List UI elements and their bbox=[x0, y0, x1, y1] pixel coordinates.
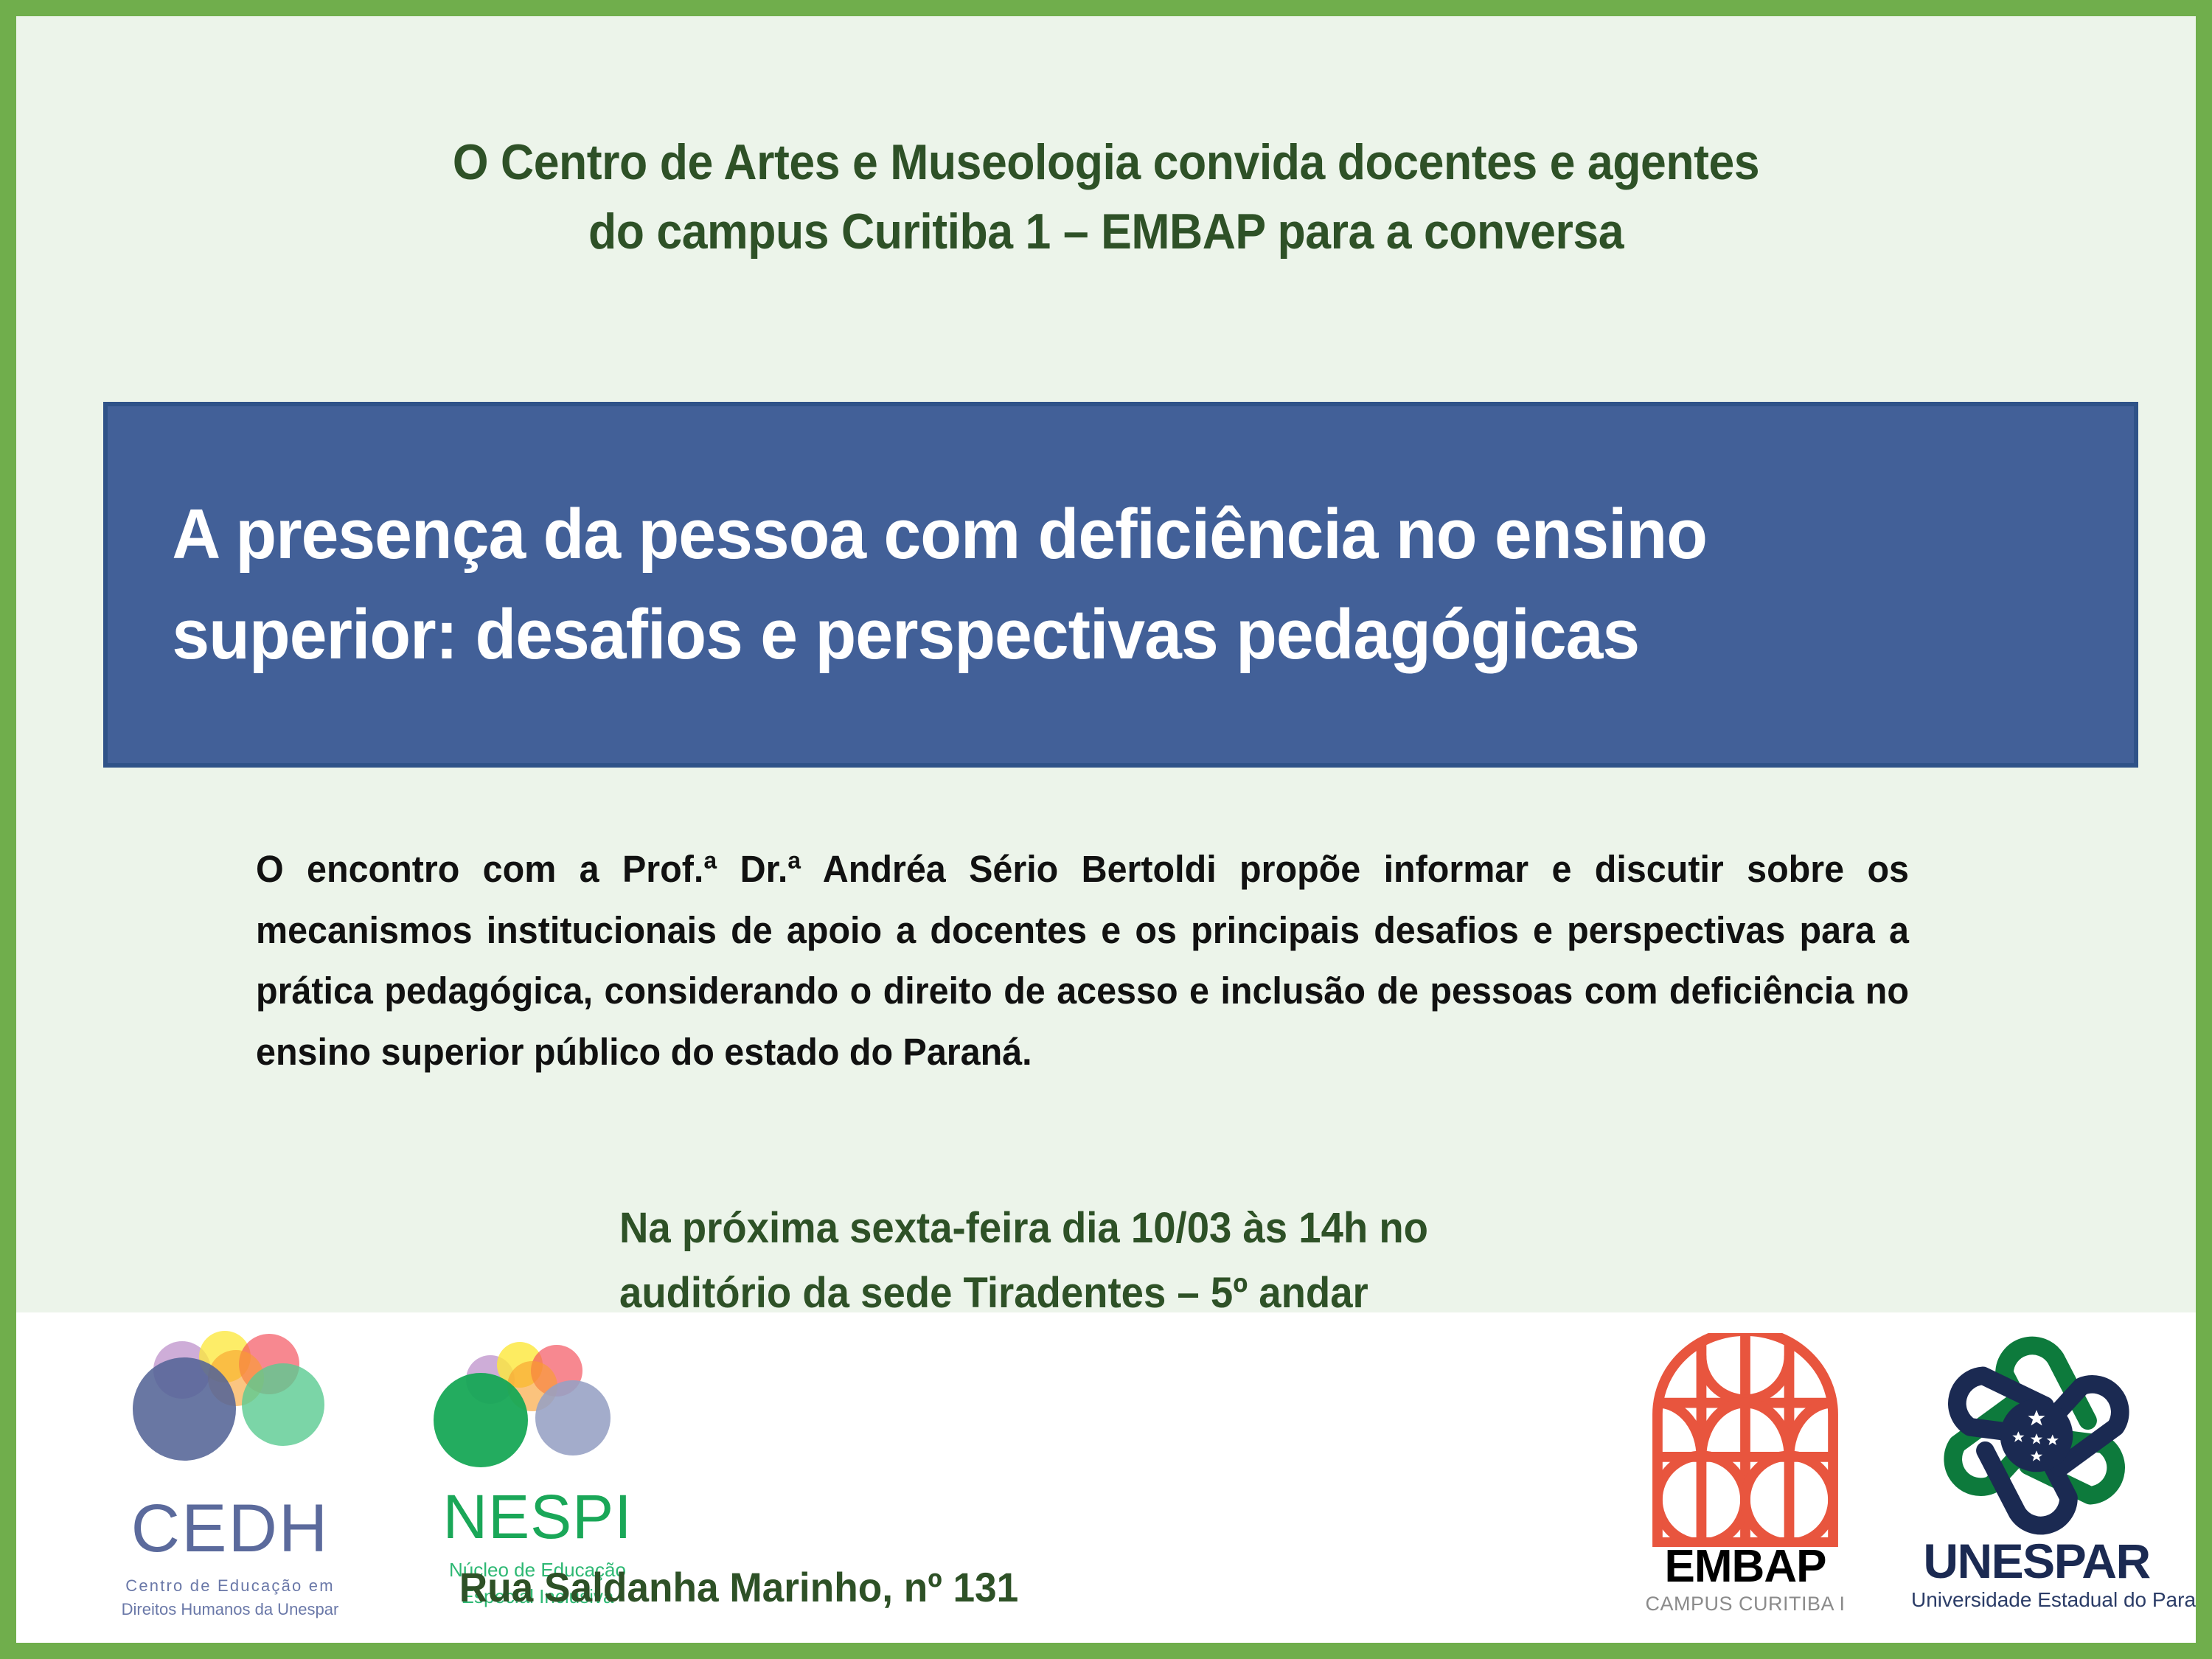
event-details-line-1: Na próxima sexta-feira dia 10/03 às 14h … bbox=[619, 1196, 1428, 1261]
header-line-1: O Centro de Artes e Museologia convida d… bbox=[103, 128, 2109, 198]
description-paragraph: O encontro com a Prof.ª Dr.ª Andréa Séri… bbox=[256, 839, 1909, 1082]
event-details: Na próxima sexta-feira dia 10/03 às 14h … bbox=[619, 1196, 1428, 1326]
cedh-wordmark: CEDH bbox=[105, 1495, 355, 1562]
title-line-1: A presença da pessoa com deficiência no … bbox=[108, 484, 2033, 585]
nespi-circles-icon bbox=[423, 1335, 652, 1491]
unespar-subtitle: Universidade Estadual do Paraná bbox=[1911, 1588, 2162, 1612]
unespar-emblem-icon bbox=[1930, 1329, 2143, 1543]
footer-address: Rua Saldanha Marinho, nº 131 bbox=[52, 1563, 1425, 1611]
cedh-circles-icon bbox=[105, 1331, 355, 1500]
header-line-2: do campus Curitiba 1 – EMBAP para a conv… bbox=[103, 198, 2109, 267]
embap-arch-icon bbox=[1631, 1333, 1860, 1547]
title-band: A presença da pessoa com deficiência no … bbox=[103, 402, 2138, 768]
poster-footer: CEDH Centro de Educação em Direitos Huma… bbox=[16, 1312, 2196, 1659]
unespar-wordmark: UNESPAR bbox=[1911, 1537, 2162, 1585]
embap-subtitle: CAMPUS CURITIBA I bbox=[1631, 1593, 1860, 1615]
embap-logo: EMBAP CAMPUS CURITIBA I bbox=[1631, 1333, 1860, 1635]
nespi-wordmark: NESPI bbox=[423, 1486, 652, 1548]
unespar-logo: UNESPAR Universidade Estadual do Paraná bbox=[1911, 1329, 2162, 1635]
description-text: O encontro com a Prof.ª Dr.ª Andréa Séri… bbox=[256, 839, 1909, 1082]
poster-header: O Centro de Artes e Museologia convida d… bbox=[103, 128, 2109, 267]
event-poster: O Centro de Artes e Museologia convida d… bbox=[0, 0, 2212, 1659]
embap-wordmark: EMBAP bbox=[1631, 1544, 1860, 1590]
title-line-2: superior: desafios e perspectivas pedagó… bbox=[108, 585, 2033, 685]
